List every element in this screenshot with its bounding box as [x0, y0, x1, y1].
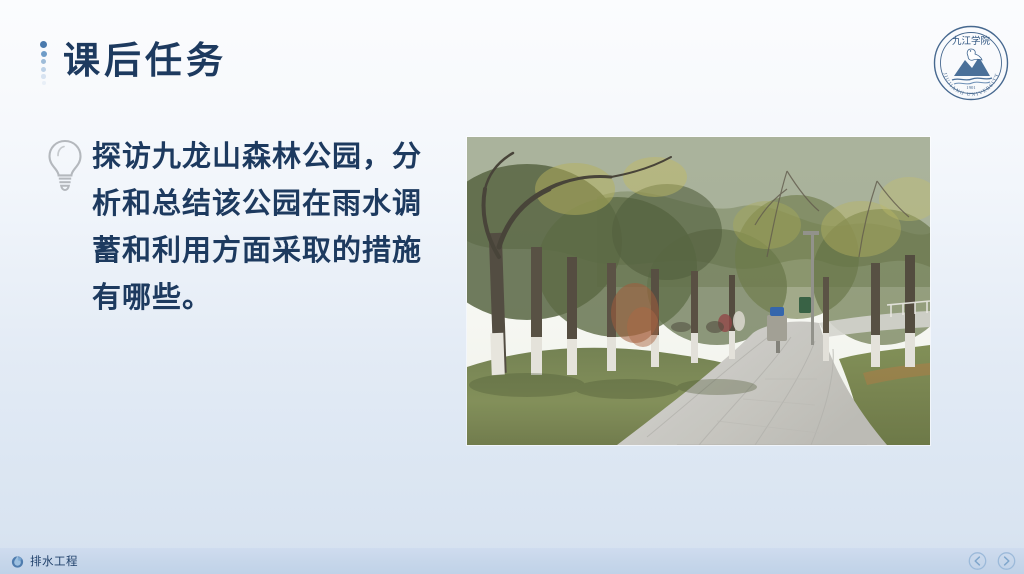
slide-canvas: 课后任务 探访九龙山森林公园，分析和总结该公园在雨水调蓄和利用方面采取的措施有哪…	[0, 0, 1024, 574]
park-photo	[467, 137, 930, 445]
page-title: 课后任务	[63, 43, 227, 80]
lightbulb-icon	[44, 138, 86, 194]
body-text: 探访九龙山森林公园，分析和总结该公园在雨水调蓄和利用方面采取的措施有哪些。	[92, 134, 447, 322]
water-drop-icon	[10, 554, 25, 569]
prev-slide-button[interactable]	[968, 552, 987, 571]
chevron-left-icon	[975, 557, 979, 565]
chevron-right-icon	[1005, 557, 1009, 565]
dot-column-marker-icon	[40, 36, 47, 86]
body-content-row: 探访九龙山森林公园，分析和总结该公园在雨水调蓄和利用方面采取的措施有哪些。	[44, 134, 454, 322]
footer-course-label: 排水工程	[30, 553, 78, 569]
university-seal-logo: 九江学院 1901 JIUJIANG UNIVERSITY	[932, 24, 1010, 102]
footer-brand: 排水工程	[10, 553, 78, 569]
slide-navigation	[968, 552, 1016, 571]
slide-title-row: 课后任务	[40, 36, 227, 86]
svg-text:1901: 1901	[966, 85, 976, 90]
svg-text:九江学院: 九江学院	[952, 35, 991, 47]
footer-bar: 排水工程	[0, 548, 1024, 574]
next-slide-button[interactable]	[997, 552, 1016, 571]
